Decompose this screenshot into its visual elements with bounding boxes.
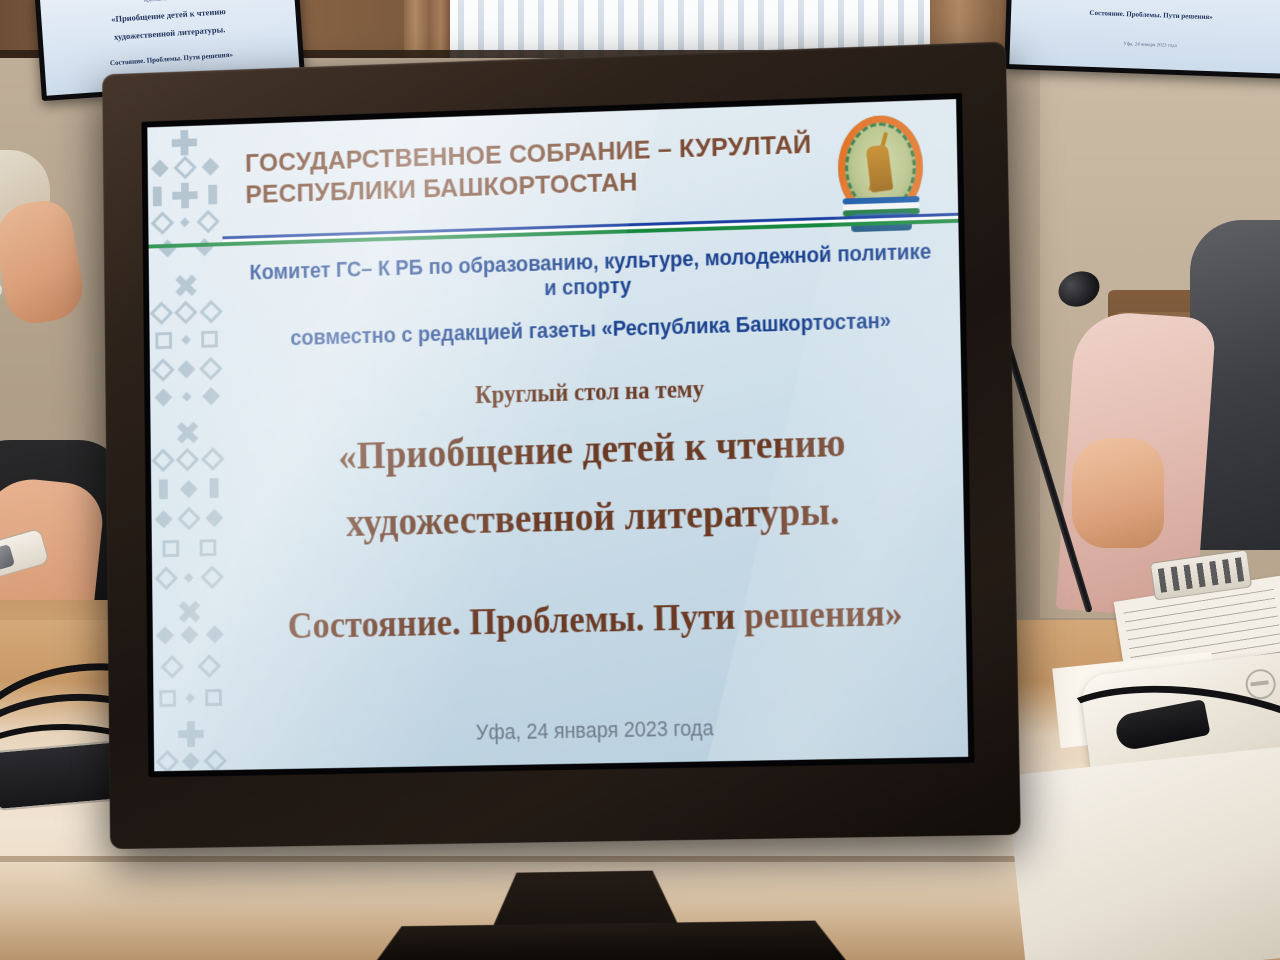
background-monitor-right: «Приобщение детей к чтению художественно… <box>1004 0 1280 79</box>
bosch-logo-icon <box>1244 667 1277 700</box>
date-line: Уфа, 24 января 2023 года <box>264 711 930 749</box>
foreground-monitor[interactable]: ГОСУДАРСТВЕННОЕ СОБРАНИЕ – КУРУЛТАЙ РЕСП… <box>102 41 1021 849</box>
hand <box>1072 438 1164 548</box>
bg-right-title-2: художественной литературы. <box>1012 0 1280 3</box>
presentation-slide: ГОСУДАРСТВЕННОЕ СОБРАНИЕ – КУРУЛТАЙ РЕСП… <box>147 99 968 771</box>
conference-room-photo: Круглый стол на тему «Приобщение детей к… <box>0 0 1280 960</box>
title-line-2: художественной литературы. <box>254 484 934 548</box>
monitor-stand-base <box>368 920 850 960</box>
slide-body: Комитет ГС– К РБ по образованию, культур… <box>223 229 969 770</box>
background-monitor-right-screen: «Приобщение детей к чтению художественно… <box>1009 0 1280 74</box>
bashkir-ornament-border <box>147 125 228 771</box>
roundtable-label: Круглый стол на тему <box>253 370 931 416</box>
title-line-3: Состояние. Проблемы. Пути решения» <box>256 590 936 649</box>
committee-line: Комитет ГС– К РБ по образованию, культур… <box>244 239 937 310</box>
face <box>0 196 88 328</box>
organization-title: ГОСУДАРСТВЕННОЕ СОБРАНИЕ – КУРУЛТАЙ РЕСП… <box>245 128 812 211</box>
title-line-1: «Приобщение детей к чтению <box>254 416 933 481</box>
bg-right-date: Уфа, 24 января 2023 года <box>1010 38 1280 54</box>
joint-organizer-line: совместно с редакцией газеты «Республика… <box>245 307 938 352</box>
bg-right-tail: Состояние. Проблемы. Пути решения» <box>1011 6 1280 24</box>
